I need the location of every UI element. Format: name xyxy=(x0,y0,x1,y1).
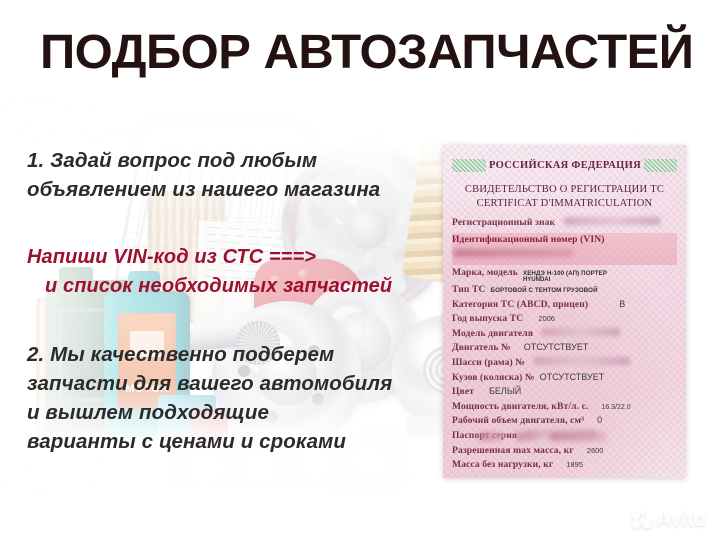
field-value-redacted xyxy=(542,328,620,336)
field-row-vehicle-type: Тип ТС БОРТОВОЙ С ТЕНТОМ ГРУЗОВОЙ xyxy=(452,284,677,299)
field-label: Год выпуска ТС xyxy=(452,313,523,324)
certificate-country: РОССИЙСКАЯ ФЕДЕРАЦИЯ xyxy=(489,160,641,171)
field-row-kerb-mass: Масса без нагрузки, кг 1895 xyxy=(452,459,677,474)
step-one-text: 1. Задай вопрос под любым объявлением из… xyxy=(27,146,380,204)
field-row-engine-number: Двигатель № ОТСУТСТВУЕТ xyxy=(452,342,677,357)
field-row-chassis-number: Шасси (рама) № xyxy=(452,357,677,372)
step-one-line-1: 1. Задай вопрос под любым xyxy=(27,146,380,175)
field-row-category: Категория ТС (ABCD, прицеп) B xyxy=(452,299,677,314)
avito-logo-icon xyxy=(632,511,652,529)
vin-callout-line-1: Напиши VIN-код из СТС ===> xyxy=(27,243,392,272)
vehicle-registration-certificate: РОССИЙСКАЯ ФЕДЕРАЦИЯ СВИДЕТЕЛЬСТВО О РЕГ… xyxy=(443,145,686,478)
field-row-year: Год выпуска ТС 2006 xyxy=(452,313,677,328)
field-label: Масса без нагрузки, кг xyxy=(452,459,553,470)
field-value-redacted xyxy=(564,217,660,225)
field-row-vin: Идентификационный номер (VIN) xyxy=(452,234,677,248)
step-two-line-4: варианты с ценами и сроками xyxy=(27,427,392,456)
field-row-make-model: Марка, модель ХЕНДЭ Н-100 (АП) ПОРТЕР HY… xyxy=(452,267,677,284)
field-value: БОРТОВОЙ С ТЕНТОМ ГРУЗОВОЙ xyxy=(491,287,598,294)
field-label: Шасси (рама) № xyxy=(452,357,525,368)
vin-value-redacted xyxy=(454,249,574,257)
step-two-line-2: запчасти для вашего автомобиля xyxy=(27,369,392,398)
field-value: B xyxy=(619,299,625,309)
step-two-text: 2. Мы качественно подберем запчасти для … xyxy=(27,340,392,456)
guilloche-pattern-right xyxy=(644,159,677,172)
field-row-engine-model: Модель двигателя xyxy=(452,328,677,343)
banner-canvas: MOTOR ПОДБОР АВТОЗАПЧАСТЕЙ 1. Задай вопр… xyxy=(0,0,720,540)
certificate-title-ru: СВИДЕТЕЛЬСТВО О РЕГИСТРАЦИИ ТС xyxy=(452,184,677,195)
field-row-max-mass: Разрешенная max масса, кг 2600 xyxy=(452,445,677,460)
vin-callout-text: Напиши VIN-код из СТС ===> и список необ… xyxy=(27,243,392,301)
field-value: 1895 xyxy=(566,460,583,469)
certificate-header: РОССИЙСКАЯ ФЕДЕРАЦИЯ xyxy=(452,158,677,173)
avito-wordmark: Avito xyxy=(656,510,706,530)
certificate-bottom-redacted xyxy=(480,432,606,441)
avito-watermark: Avito xyxy=(632,510,706,530)
field-value: ОТСУТСТВУЕТ xyxy=(540,372,605,382)
field-label: Цвет xyxy=(452,386,474,397)
field-row-plate: Регистрационный знак xyxy=(452,217,677,232)
step-one-line-2: объявлением из нашего магазина xyxy=(27,175,380,204)
field-label: Категория ТС (ABCD, прицеп) xyxy=(452,299,588,310)
field-label: Разрешенная max масса, кг xyxy=(452,445,574,456)
field-value: 2600 xyxy=(587,446,604,455)
page-title: ПОДБОР АВТОЗАПЧАСТЕЙ xyxy=(40,29,713,77)
field-value: БЕЛЫЙ xyxy=(489,386,521,396)
field-value-secondary: HYUNDAI xyxy=(523,277,607,283)
field-label: Модель двигателя xyxy=(452,328,533,339)
vin-callout-line-2: и список необходимых запчастей xyxy=(27,272,392,301)
field-label: Мощность двигателя, кВт/л. с. xyxy=(452,401,588,412)
field-label: Марка, модель xyxy=(452,267,518,278)
field-value-redacted xyxy=(534,357,630,365)
field-row-power: Мощность двигателя, кВт/л. с. 16.3/22.0 xyxy=(452,401,677,416)
field-label: Идентификационный номер (VIN) xyxy=(452,234,605,245)
guilloche-pattern-left xyxy=(452,159,486,172)
vin-highlight-band: Идентификационный номер (VIN) xyxy=(452,233,677,266)
field-value: ХЕНДЭ Н-100 (АП) ПОРТЕР xyxy=(523,270,607,277)
field-label: Рабочий объем двигателя, см³ xyxy=(452,415,584,426)
step-two-line-1: 2. Мы качественно подберем xyxy=(27,340,392,369)
field-value: ОТСУТСТВУЕТ xyxy=(524,342,589,352)
field-value: 16.3/22.0 xyxy=(601,404,630,411)
field-label: Кузов (коляска) № xyxy=(452,372,535,383)
field-label: Двигатель № xyxy=(452,342,511,353)
step-two-line-3: и вышлем подходящие xyxy=(27,398,392,427)
field-row-body-number: Кузов (коляска) № ОТСУТСТВУЕТ xyxy=(452,372,677,387)
field-label: Тип ТС xyxy=(452,284,486,295)
certificate-title-fr: CERTIFICAT D'IMMATRICULATION xyxy=(452,198,677,209)
field-label: Регистрационный знак xyxy=(452,217,555,228)
field-row-color: Цвет БЕЛЫЙ xyxy=(452,386,677,401)
field-row-displacement: Рабочий объем двигателя, см³ 0 xyxy=(452,415,677,430)
field-value: 2006 xyxy=(538,314,555,323)
field-value: 0 xyxy=(597,415,602,425)
